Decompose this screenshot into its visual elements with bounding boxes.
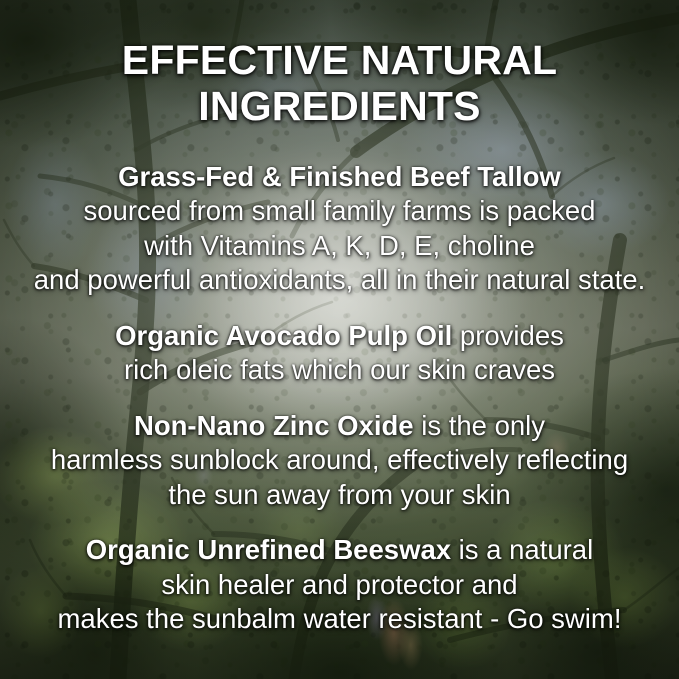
poster-content: EFFECTIVE NATURAL INGREDIENTS Grass-Fed …: [0, 0, 679, 679]
ingredient-detail-line: makes the sunbalm water resistant - Go s…: [22, 602, 657, 637]
ingredient-name-avocado-oil: Organic Avocado Pulp Oil: [115, 320, 452, 351]
ingredient-headline-tail: is the only: [414, 410, 545, 441]
ingredient-detail-line: with Vitamins A, K, D, E, choline: [22, 229, 657, 264]
headline-line-2: INGREDIENTS: [22, 84, 657, 130]
page-title: EFFECTIVE NATURAL INGREDIENTS: [22, 38, 657, 130]
ingredient-detail-line: sourced from small family farms is packe…: [22, 194, 657, 229]
ingredient-detail-line: and powerful antioxidants, all in their …: [22, 263, 657, 298]
ingredient-paragraph-zinc-oxide: Non-Nano Zinc Oxide is the only harmless…: [22, 409, 657, 513]
ingredient-headline-tail: is a natural: [451, 534, 593, 565]
ingredient-paragraph-beeswax: Organic Unrefined Beeswax is a natural s…: [22, 533, 657, 637]
ingredient-paragraph-beef-tallow: Grass-Fed & Finished Beef Tallow sourced…: [22, 160, 657, 298]
ingredient-name-beef-tallow: Grass-Fed & Finished Beef Tallow: [22, 160, 657, 195]
ingredient-paragraph-avocado-oil: Organic Avocado Pulp Oil provides rich o…: [22, 319, 657, 388]
ingredient-headline-line: Organic Unrefined Beeswax is a natural: [22, 533, 657, 568]
ingredient-headline-line: Organic Avocado Pulp Oil provides: [22, 319, 657, 354]
headline-line-1: EFFECTIVE NATURAL: [22, 38, 657, 84]
ingredient-name-beeswax: Organic Unrefined Beeswax: [86, 534, 451, 565]
ingredient-name-zinc-oxide: Non-Nano Zinc Oxide: [134, 410, 414, 441]
ingredients-poster: EFFECTIVE NATURAL INGREDIENTS Grass-Fed …: [0, 0, 679, 679]
ingredient-detail-line: skin healer and protector and: [22, 568, 657, 603]
ingredient-detail-line: rich oleic fats which our skin craves: [22, 353, 657, 388]
ingredient-detail-line: harmless sunblock around, effectively re…: [22, 443, 657, 478]
ingredient-headline-tail: provides: [452, 320, 564, 351]
ingredient-detail-line: the sun away from your skin: [22, 478, 657, 513]
ingredient-headline-line: Non-Nano Zinc Oxide is the only: [22, 409, 657, 444]
